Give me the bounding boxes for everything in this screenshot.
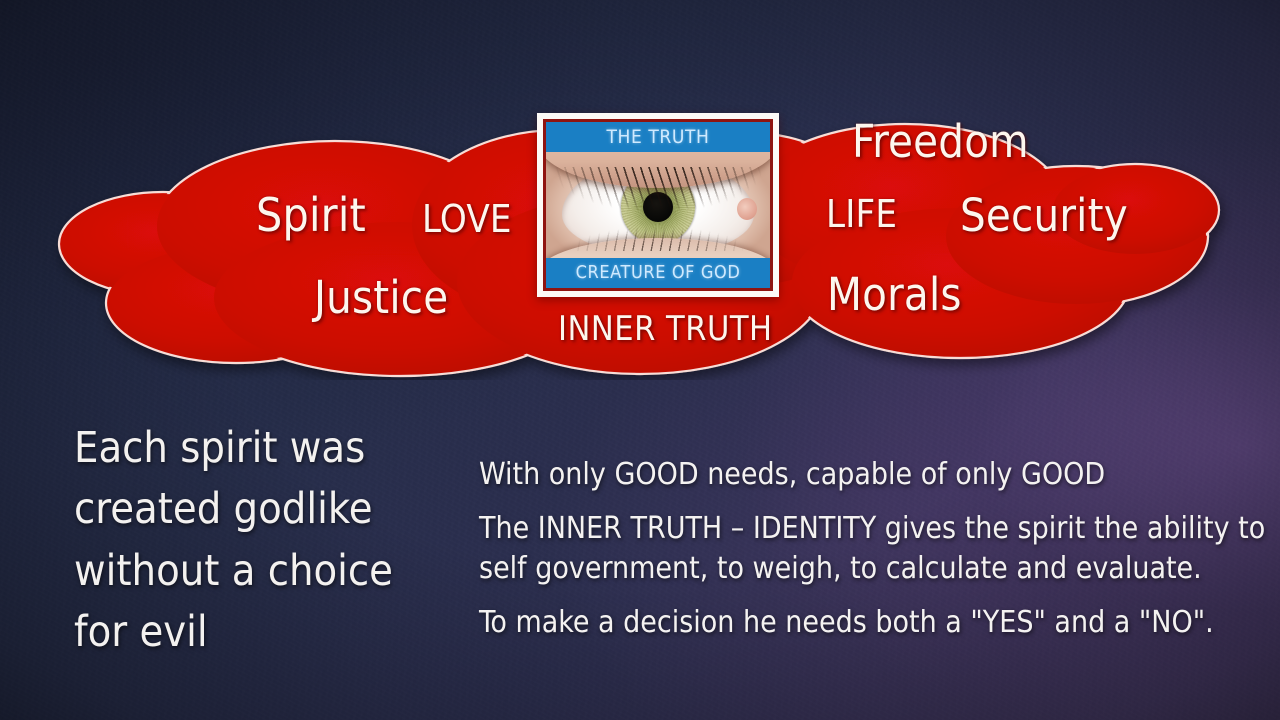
upper-eyelashes <box>555 167 761 217</box>
cloud-label-freedom: Freedom <box>852 115 1029 168</box>
cloud-caption-inner-truth: INNER TRUTH <box>558 309 773 349</box>
tear-duct <box>737 198 757 220</box>
cloud-label-life: LIFE <box>826 192 897 236</box>
eye-card-bottom-banner: CREATURE OF GOD <box>546 258 770 288</box>
body-text-block: With only GOOD needs, capable of only GO… <box>479 455 1269 643</box>
headline-text: Each spirit was created godlike without … <box>74 418 434 664</box>
cloud-label-love: LOVE <box>422 197 512 241</box>
cloud-label-security: Security <box>960 189 1128 242</box>
eye-image-card: THE TRUTH CREATURE OF GOD <box>537 113 779 297</box>
body-paragraph-3: To make a decision he needs both a "YES"… <box>479 603 1269 643</box>
body-paragraph-1: With only GOOD needs, capable of only GO… <box>479 455 1269 495</box>
eye-card-top-banner: THE TRUTH <box>546 122 770 152</box>
cloud-label-spirit: Spirit <box>256 188 366 242</box>
lower-eyelashes <box>573 225 743 252</box>
body-paragraph-2: The INNER TRUTH – IDENTITY gives the spi… <box>479 509 1269 589</box>
cloud-label-justice: Justice <box>314 271 448 324</box>
cloud-label-morals: Morals <box>827 268 962 321</box>
eye-image-frame: THE TRUTH CREATURE OF GOD <box>543 119 773 291</box>
slide-canvas: Spirit LOVE Justice Freedom LIFE Securit… <box>0 0 1280 720</box>
